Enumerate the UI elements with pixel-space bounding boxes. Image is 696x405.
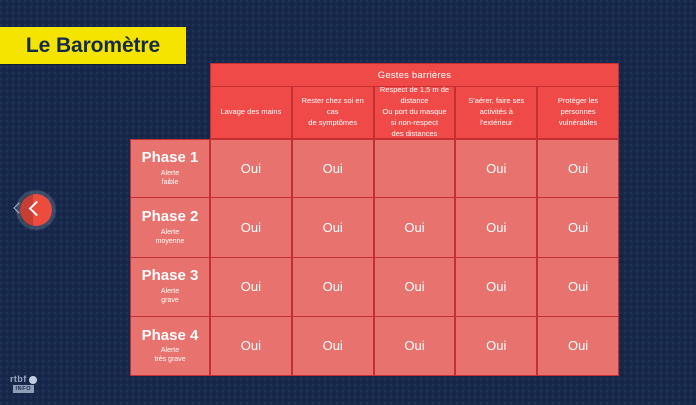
- table-row: Phase 2 Alerte moyenne Oui Oui Oui Oui O…: [130, 198, 619, 257]
- phase-alert-line: Alerte: [161, 169, 179, 178]
- table-group-header: Gestes barrières: [210, 63, 619, 87]
- phase-name: Phase 1: [142, 150, 199, 167]
- column-header-line: Rester chez soi en cas: [297, 96, 369, 118]
- phase-alert-line: Alerte: [154, 346, 185, 355]
- phase-name: Phase 3: [142, 268, 199, 285]
- barometre-slide: Le Baromètre Gestes barrières Lavage des…: [0, 0, 696, 405]
- cell-phase2-rester-chez-soi: Oui: [292, 198, 374, 257]
- column-header-aerer-exterieur: S'aérer, faire ses activités à l'extérie…: [455, 87, 537, 139]
- phase-alert-level: Alerte moyenne: [156, 228, 185, 246]
- phase-name: Phase 4: [142, 328, 199, 345]
- logo-wordmark-row: rtbf: [10, 375, 37, 384]
- phase-name: Phase 2: [142, 209, 199, 226]
- column-header-line: Respect de 1,5 m de: [380, 85, 449, 96]
- column-header-line: Protéger les: [558, 96, 598, 107]
- phase-alert-line: très grave: [154, 355, 185, 364]
- table-row: Phase 4 Alerte très grave Oui Oui Oui Ou…: [130, 317, 619, 376]
- logo-info-badge: INFO: [13, 385, 35, 393]
- rtbf-info-logo: rtbf INFO: [10, 375, 37, 393]
- column-header-line: vulnérables: [558, 118, 598, 129]
- column-header-line: l'extérieur: [468, 118, 524, 129]
- column-header-line: distance: [380, 96, 449, 107]
- phase-alert-line: grave: [161, 296, 179, 305]
- phase-label-cell: Phase 2 Alerte moyenne: [130, 198, 210, 257]
- column-header-line: S'aérer, faire ses: [468, 96, 524, 107]
- phase-alert-level: Alerte très grave: [154, 346, 185, 364]
- cell-phase1-rester-chez-soi: Oui: [292, 139, 374, 198]
- phase-alert-line: moyenne: [156, 237, 185, 246]
- table-row: Phase 3 Alerte grave Oui Oui Oui Oui Oui: [130, 258, 619, 317]
- page-title: Le Baromètre: [26, 34, 160, 58]
- column-header-rester-chez-soi: Rester chez soi en cas de symptômes: [292, 87, 374, 139]
- phase-label-cell: Phase 4 Alerte très grave: [130, 317, 210, 376]
- column-header-distance-masque: Respect de 1,5 m de distance Ou port du …: [374, 87, 456, 139]
- table-header-corner: [130, 87, 210, 139]
- cell-phase1-aerer: Oui: [455, 139, 537, 198]
- cell-phase2-distance: Oui: [374, 198, 456, 257]
- cell-phase4-aerer: Oui: [455, 317, 537, 376]
- column-header-line: si non-respect: [380, 118, 449, 129]
- logo-wordmark: rtbf: [10, 375, 27, 384]
- phase-alert-line: Alerte: [156, 228, 185, 237]
- cell-phase3-vulnerables: Oui: [537, 258, 619, 317]
- table-corner-spacer: [130, 63, 210, 87]
- cell-phase4-distance: Oui: [374, 317, 456, 376]
- column-header-line: Ou port du masque: [380, 107, 449, 118]
- column-header-line: Lavage des mains: [220, 107, 281, 118]
- column-header-personnes-vulnerables: Protéger les personnes vulnérables: [537, 87, 619, 139]
- cell-phase4-rester-chez-soi: Oui: [292, 317, 374, 376]
- cell-phase1-lavage: Oui: [210, 139, 292, 198]
- column-header-line: de symptômes: [297, 118, 369, 129]
- cell-phase3-aerer: Oui: [455, 258, 537, 317]
- logo-circle-icon: [29, 376, 37, 384]
- table-column-header-row: Lavage des mains Rester chez soi en cas …: [130, 87, 619, 139]
- cell-phase2-vulnerables: Oui: [537, 198, 619, 257]
- cell-phase4-lavage: Oui: [210, 317, 292, 376]
- cell-phase3-rester-chez-soi: Oui: [292, 258, 374, 317]
- cell-phase3-distance: Oui: [374, 258, 456, 317]
- phase-alert-line: faible: [161, 178, 179, 187]
- cell-phase1-distance: [374, 139, 456, 198]
- barometre-table: Gestes barrières Lavage des mains Rester…: [130, 63, 619, 376]
- phase-alert-line: Alerte: [161, 287, 179, 296]
- phase-label-cell: Phase 3 Alerte grave: [130, 258, 210, 317]
- title-banner: Le Baromètre: [0, 27, 186, 64]
- phase-alert-level: Alerte grave: [161, 287, 179, 305]
- cell-phase1-vulnerables: Oui: [537, 139, 619, 198]
- cell-phase2-aerer: Oui: [455, 198, 537, 257]
- phase-label-cell: Phase 1 Alerte faible: [130, 139, 210, 198]
- previous-slide-button[interactable]: [16, 190, 56, 230]
- cell-phase2-lavage: Oui: [210, 198, 292, 257]
- column-header-line: personnes: [558, 107, 598, 118]
- table-row: Phase 1 Alerte faible Oui Oui Oui Oui: [130, 139, 619, 198]
- cell-phase3-lavage: Oui: [210, 258, 292, 317]
- phase-alert-level: Alerte faible: [161, 169, 179, 187]
- cell-phase4-vulnerables: Oui: [537, 317, 619, 376]
- table-group-header-row: Gestes barrières: [130, 63, 619, 87]
- column-header-line: activités à: [468, 107, 524, 118]
- column-header-lavage-des-mains: Lavage des mains: [210, 87, 292, 139]
